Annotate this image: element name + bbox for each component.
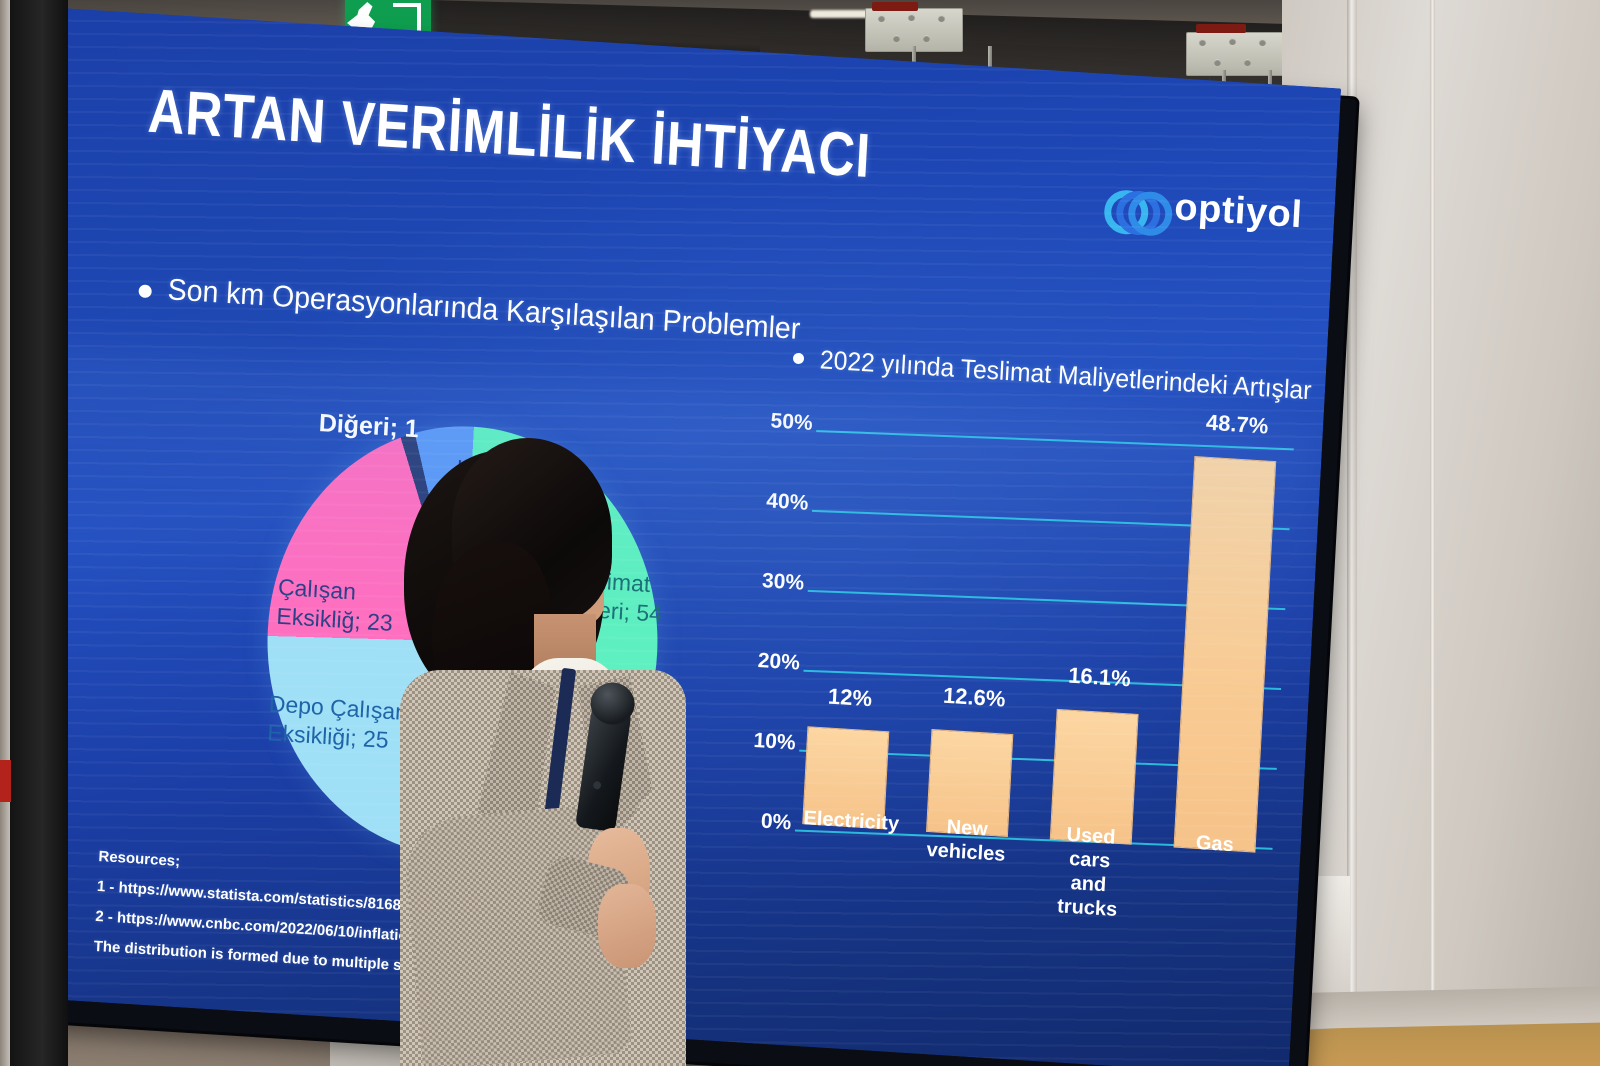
x-label-used-cars-line1: Used cars — [1049, 822, 1131, 875]
logo-wordmark: optiyol — [1173, 186, 1303, 237]
bar-value-new-vehicles: 12.6% — [942, 683, 1006, 713]
photo-scene: ARTAN VERİMLİLİK İHTİYACI optiyol Son km… — [0, 0, 1600, 1066]
page-title: ARTAN VERİMLİLİK İHTİYACI — [146, 76, 872, 192]
x-label-gas: Gas — [1170, 830, 1255, 931]
three-rings-icon — [1104, 186, 1164, 224]
bullet-dot-icon — [138, 284, 152, 298]
microphone-button — [593, 781, 602, 790]
bullet-left: Son km Operasyonlarında Karşılaşılan Pro… — [138, 271, 834, 349]
red-clip — [872, 2, 918, 11]
bullet-right: 2022 yılında Teslimat Maliyetlerindeki A… — [792, 343, 1338, 408]
x-label-electricity-line1: Electricity — [803, 806, 884, 835]
bullet-right-label: 2022 yılında Teslimat Maliyetlerindeki A… — [819, 344, 1312, 406]
x-label-new-vehicles-line2: vehicles — [925, 838, 1006, 867]
left-dark-column — [10, 0, 68, 1066]
bullet-left-label: Son km Operasyonlarında Karşılaşılan Pro… — [167, 273, 801, 347]
x-label-gas-line1: Gas — [1174, 830, 1255, 859]
optiyol-logo: optiyol — [1104, 182, 1304, 237]
x-label-used-cars: Used cars and trucks — [1047, 822, 1132, 923]
bullet-dot-icon — [793, 353, 805, 365]
wall-seam — [1430, 0, 1435, 1010]
y-tick-0: 0% — [733, 808, 792, 836]
x-label-new-vehicles: New vehicles — [923, 814, 1008, 915]
x-label-electricity: Electricity — [799, 806, 884, 907]
presenter-hand-lower — [598, 884, 656, 968]
baseboard — [1280, 987, 1600, 1030]
red-clip — [1196, 24, 1246, 33]
presenter — [392, 432, 692, 1066]
bar-value-electricity: 12% — [827, 683, 872, 712]
x-label-used-cars-line2: and trucks — [1047, 870, 1129, 923]
y-tick-10: 10% — [737, 728, 796, 756]
red-marker — [0, 760, 11, 802]
pie-label-depo: Depo Çalışan Eksikliği; 25 — [267, 689, 409, 757]
